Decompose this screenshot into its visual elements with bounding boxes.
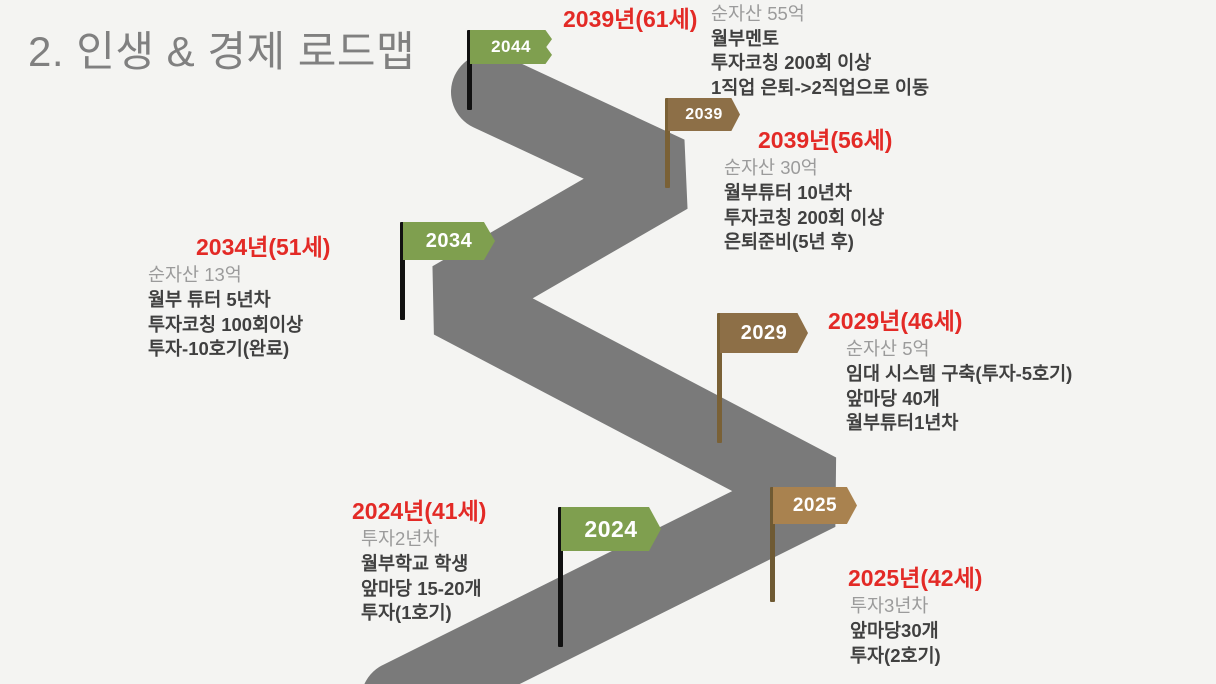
milestone-line: 순자산 55억 xyxy=(711,2,929,27)
milestone-lines: 순자산 13억 월부 튜터 5년차 투자코칭 100회이상 투자-10호기(완료… xyxy=(148,263,330,361)
milestone-2034-51: 2034년(51세) 순자산 13억 월부 튜터 5년차 투자코칭 100회이상… xyxy=(148,234,330,362)
milestone-line: 월부학교 학생 xyxy=(361,552,486,577)
milestone-line: 은퇴준비(5년 후) xyxy=(724,230,892,255)
flag-banner: 2024 xyxy=(561,507,661,551)
milestone-line: 투자코칭 100회이상 xyxy=(148,313,330,338)
milestone-line: 월부튜터 10년차 xyxy=(724,181,892,206)
milestone-line: 임대 시스템 구축(투자-5호기) xyxy=(846,362,1072,387)
flag-marker-2034[interactable]: 2034 xyxy=(400,222,510,320)
milestone-lines: 순자산 5억 임대 시스템 구축(투자-5호기) 앞마당 40개 월부튜터1년차 xyxy=(846,337,1072,435)
milestone-line: 앞마당 40개 xyxy=(846,387,1072,412)
milestone-line: 투자-10호기(완료) xyxy=(148,337,330,362)
flag-marker-2029[interactable]: 2029 xyxy=(717,313,827,443)
flag-label: 2044 xyxy=(491,37,531,57)
milestone-heading: 2039년(56세) xyxy=(758,127,892,153)
milestone-2039-61: 2039년(61세) 순자산 55억 월부멘토 투자코칭 200회 이상 1직업… xyxy=(563,2,929,100)
flag-marker-2044[interactable]: 2044 xyxy=(467,30,577,110)
milestone-line: 월부멘토 xyxy=(711,27,929,52)
milestone-lines: 투자2년차 월부학교 학생 앞마당 15-20개 투자(1호기) xyxy=(361,527,486,625)
milestone-line: 앞마당30개 xyxy=(850,619,982,644)
milestone-heading: 2034년(51세) xyxy=(196,234,330,260)
milestone-line: 월부 튜터 5년차 xyxy=(148,288,330,313)
milestone-2025-42: 2025년(42세) 투자3년차 앞마당30개 투자(2호기) xyxy=(848,565,982,668)
milestone-2039-56: 2039년(56세) 순자산 30억 월부튜터 10년차 투자코칭 200회 이… xyxy=(724,127,892,255)
flag-label: 2025 xyxy=(793,495,837,517)
milestone-line: 투자코칭 200회 이상 xyxy=(724,206,892,231)
milestone-2029-46: 2029년(46세) 순자산 5억 임대 시스템 구축(투자-5호기) 앞마당 … xyxy=(824,308,1072,436)
milestone-line: 순자산 13억 xyxy=(148,263,330,288)
milestone-line: 투자2년차 xyxy=(361,527,486,552)
flag-banner: 2029 xyxy=(720,313,808,353)
flag-label: 2039 xyxy=(685,106,723,124)
flag-label: 2024 xyxy=(584,516,637,543)
milestone-heading: 2025년(42세) xyxy=(848,565,982,591)
milestone-line: 순자산 5억 xyxy=(846,337,1072,362)
milestone-line: 순자산 30억 xyxy=(724,156,892,181)
flag-label: 2034 xyxy=(426,230,473,253)
milestone-heading: 2039년(61세) xyxy=(563,6,697,32)
flag-label: 2029 xyxy=(741,322,788,345)
milestone-line: 투자3년차 xyxy=(850,594,982,619)
milestone-lines: 순자산 55억 월부멘토 투자코칭 200회 이상 1직업 은퇴->2직업으로 … xyxy=(711,2,929,100)
milestone-line: 앞마당 15-20개 xyxy=(361,577,486,602)
milestone-line: 월부튜터1년차 xyxy=(846,411,1072,436)
milestone-heading: 2029년(46세) xyxy=(828,308,1072,334)
milestone-line: 투자코칭 200회 이상 xyxy=(711,51,929,76)
flag-banner: 2025 xyxy=(773,487,857,524)
milestone-lines: 순자산 30억 월부튜터 10년차 투자코칭 200회 이상 은퇴준비(5년 후… xyxy=(724,156,892,254)
roadmap-slide: 2. 인생 & 경제 로드맵 2044 2039 2034 2029 xyxy=(0,0,1216,684)
flag-banner: 2044 xyxy=(470,30,552,64)
milestone-2024-41: 2024년(41세) 투자2년차 월부학교 학생 앞마당 15-20개 투자(1… xyxy=(352,498,486,626)
milestone-heading: 2024년(41세) xyxy=(352,498,486,524)
flag-banner: 2034 xyxy=(403,222,495,260)
milestone-line: 투자(2호기) xyxy=(850,644,982,669)
milestone-line: 1직업 은퇴->2직업으로 이동 xyxy=(711,76,929,101)
milestone-line: 투자(1호기) xyxy=(361,601,486,626)
milestone-lines: 투자3년차 앞마당30개 투자(2호기) xyxy=(850,594,982,668)
flag-marker-2024[interactable]: 2024 xyxy=(558,507,678,647)
